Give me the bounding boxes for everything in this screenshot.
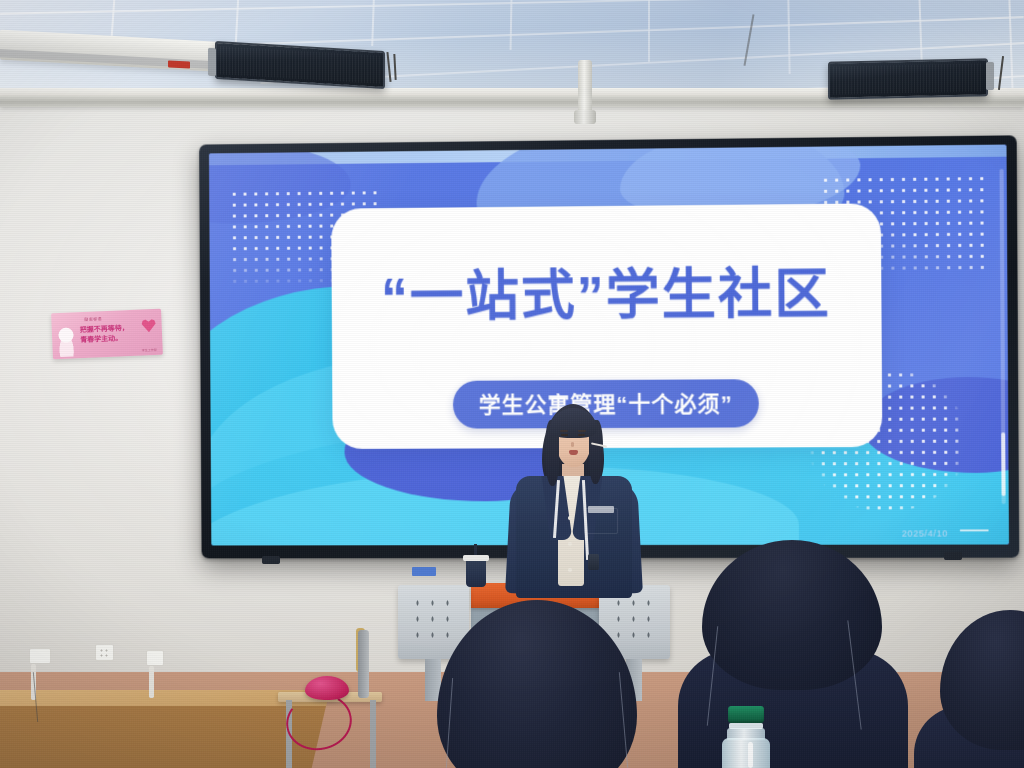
audience-member-3 (920, 610, 1024, 768)
presenter-nose (571, 442, 574, 447)
display-mount-left (262, 556, 280, 564)
bottle-highlight (748, 742, 753, 768)
presenter-mouth (569, 450, 578, 455)
blue-folder (412, 567, 436, 576)
heart-icon (141, 319, 156, 333)
conduit-mid (149, 666, 154, 698)
poster-figure-icon (55, 326, 78, 357)
wall-switch (95, 644, 114, 661)
audience-head-2 (702, 540, 882, 690)
bottle-ring (729, 723, 763, 729)
presenter-jacket-logo (588, 506, 614, 513)
bottle-body (722, 738, 770, 768)
lanyard-badge (588, 554, 599, 570)
presenter (498, 404, 648, 594)
slide-progress-bar (960, 529, 989, 531)
coffee-cup (466, 557, 486, 587)
bottle-neck (727, 728, 765, 740)
coffee-cup-lid (463, 555, 489, 561)
chair-back (358, 630, 369, 698)
jacket-button-3 (568, 568, 572, 572)
bottle-cap (728, 706, 764, 723)
audience-member-1 (437, 600, 637, 768)
poster-line-2: 青春学主动。 (80, 336, 122, 345)
jacket-button-1 (568, 516, 572, 520)
speaker-bracket-right (986, 62, 994, 90)
switch-detail (99, 648, 110, 657)
audience-head-1 (437, 600, 637, 768)
water-bottle (718, 706, 774, 768)
desk-leg-right (370, 700, 376, 768)
poster-line-1: 把握不再等待， (80, 325, 129, 334)
handbag (305, 676, 349, 700)
jacket-button-2 (568, 542, 572, 546)
slide-scrollbar-thumb[interactable] (1001, 433, 1005, 497)
presenter-brow-left (560, 430, 568, 432)
audience-member-2 (678, 540, 908, 768)
poster-small-text: 励志标语 (84, 316, 102, 323)
slide-title: “一站式”学生社区 (331, 267, 882, 325)
pipe-bracket (574, 110, 596, 124)
presenter-brow-right (578, 430, 586, 432)
wall-speaker-right (828, 58, 988, 99)
slide-date: 2025/4/10 (902, 529, 948, 539)
duct-label (168, 60, 190, 68)
wall-outlet-mid (146, 650, 164, 666)
photo-scene: 励志标语 把握不再等待， 青春学主动。 学生工作部 (0, 0, 1024, 768)
speaker-bracket-left (208, 48, 216, 76)
poster-fine-text: 学生工作部 (142, 348, 157, 353)
wall-outlet-left (29, 648, 51, 664)
wall-poster-pink: 励志标语 把握不再等待， 青春学主动。 学生工作部 (51, 309, 163, 360)
poster-main-text: 把握不再等待， 青春学主动。 (80, 324, 130, 346)
display-mount-right (944, 552, 962, 560)
